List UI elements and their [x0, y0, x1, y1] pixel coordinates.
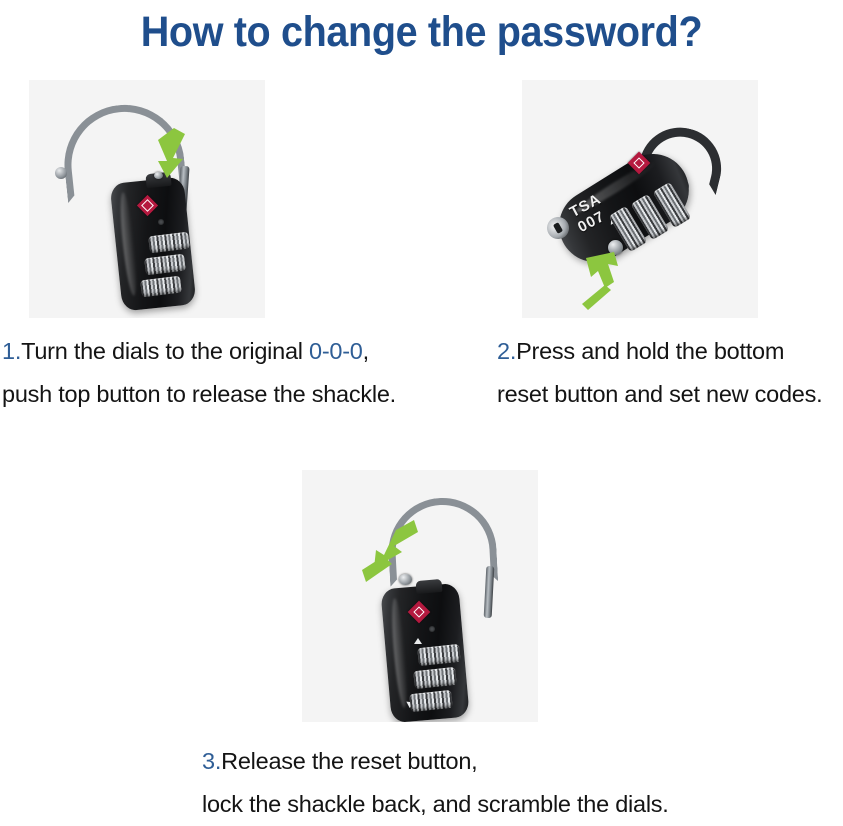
step-1-lock-illustration — [29, 80, 265, 318]
step-1-number: 1. — [2, 338, 21, 364]
body-pin-1 — [158, 219, 164, 225]
body-pin-3 — [429, 626, 435, 632]
step-2-number: 2. — [497, 338, 516, 364]
cable-right-leg-3 — [484, 566, 495, 618]
cable-free-end-1 — [55, 167, 67, 179]
step-1-line1-post: , — [363, 338, 369, 364]
step-2-caption: 2.Press and hold the bottom reset button… — [497, 330, 822, 416]
step-2-caption-line-2: reset button and set new codes. — [497, 373, 822, 416]
dial-index-marker-3-top — [414, 638, 422, 644]
step-3-caption-line-1: 3.Release the reset button, — [202, 740, 669, 783]
green-arrow-up-2 — [578, 252, 622, 310]
step-1-line1-pre: Turn the dials to the original — [21, 338, 309, 364]
green-arrow-down-left-3 — [362, 520, 420, 582]
step-1-line1-highlight: 0-0-0 — [309, 338, 363, 364]
page-title: How to change the password? — [34, 4, 810, 60]
step-3-photo — [302, 470, 538, 722]
step-2-photo: TSA 007 — [522, 80, 758, 318]
step-1-caption-line-1: 1.Turn the dials to the original 0-0-0, — [2, 330, 396, 373]
step-3-number: 3. — [202, 748, 221, 774]
step-3-caption: 3.Release the reset button, lock the sha… — [202, 740, 669, 826]
step-1-caption: 1.Turn the dials to the original 0-0-0, … — [2, 330, 396, 416]
green-arrow-down-1 — [147, 128, 193, 178]
step-3-lock-illustration — [302, 470, 538, 722]
step-1-photo — [29, 80, 265, 318]
step-2-lock-illustration: TSA 007 — [522, 80, 758, 318]
step-3-line1-pre: Release the reset button, — [221, 748, 477, 774]
step-2-caption-line-1: 2.Press and hold the bottom — [497, 330, 822, 373]
step-2-line1-pre: Press and hold the bottom — [516, 338, 784, 364]
step-1-caption-line-2: push top button to release the shackle. — [2, 373, 396, 416]
